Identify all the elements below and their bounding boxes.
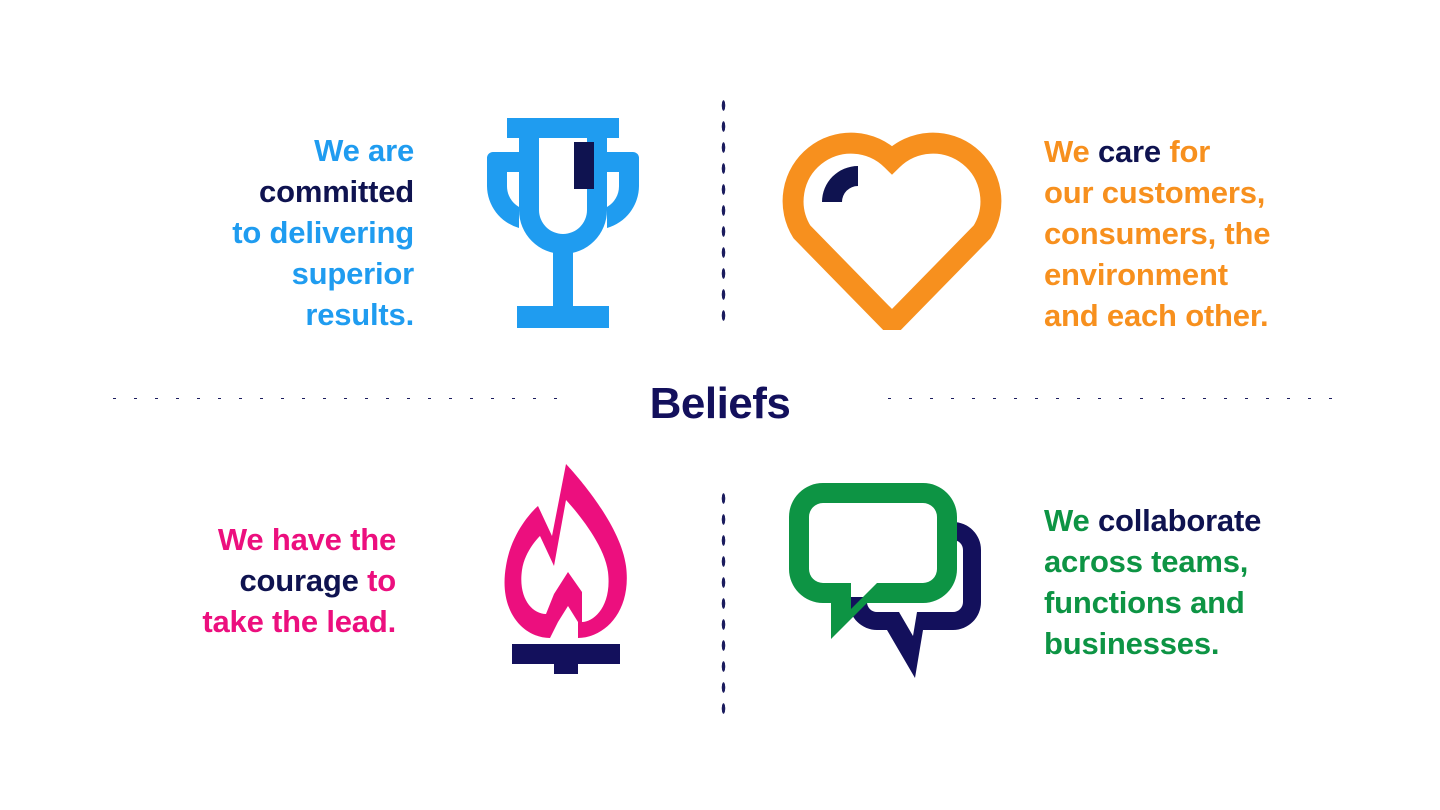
belief-word-run: for <box>1161 134 1210 169</box>
belief-word-run: superior <box>292 256 414 291</box>
belief-line: our customers, <box>1044 172 1404 213</box>
speech-bubbles-icon <box>787 481 1000 684</box>
belief-word-run: consumers, the <box>1044 216 1270 251</box>
belief-keyword: courage <box>240 563 359 598</box>
torch-base <box>512 644 620 674</box>
belief-word-run: environment <box>1044 257 1228 292</box>
beliefs-slide: Beliefs We arecommittedto deliveringsupe… <box>0 0 1440 810</box>
belief-text-collaborate: We collaborateacross teams,functions and… <box>1044 500 1414 664</box>
belief-text-care: We care forour customers,consumers, thee… <box>1044 131 1404 336</box>
belief-text-courage: We have thecourage totake the lead. <box>56 519 396 642</box>
belief-line: We are <box>84 130 414 171</box>
belief-keyword: care <box>1098 134 1161 169</box>
belief-text-committed: We arecommittedto deliveringsuperiorresu… <box>84 130 414 335</box>
belief-line: committed <box>84 171 414 212</box>
page-title: Beliefs <box>0 378 1440 430</box>
belief-line: courage to <box>56 560 396 601</box>
belief-line: to delivering <box>84 212 414 253</box>
belief-line: businesses. <box>1044 623 1414 664</box>
belief-keyword: collaborate <box>1098 503 1261 538</box>
belief-word-run: and each other. <box>1044 298 1268 333</box>
belief-keyword: committed <box>259 174 414 209</box>
trophy-icon <box>481 118 645 330</box>
belief-line: consumers, the <box>1044 213 1404 254</box>
belief-line: across teams, <box>1044 541 1414 582</box>
belief-line: results. <box>84 294 414 335</box>
belief-word-run: We <box>1044 503 1098 538</box>
belief-word-run: We <box>1044 134 1098 169</box>
belief-word-run: our customers, <box>1044 175 1265 210</box>
belief-line: We have the <box>56 519 396 560</box>
belief-word-run: We have the <box>218 522 396 557</box>
belief-word-run: businesses. <box>1044 626 1219 661</box>
belief-word-run: across teams, <box>1044 544 1248 579</box>
belief-word-run: functions and <box>1044 585 1245 620</box>
belief-word-run: results. <box>305 297 414 332</box>
divider-bottom-vertical <box>720 488 727 722</box>
trophy-accent-chip <box>574 142 594 189</box>
belief-line: take the lead. <box>56 601 396 642</box>
heart-icon <box>780 118 1004 330</box>
flame-torch-icon <box>500 462 632 674</box>
belief-line: superior <box>84 253 414 294</box>
belief-line: functions and <box>1044 582 1414 623</box>
belief-word-run: take the lead. <box>202 604 396 639</box>
belief-line: We collaborate <box>1044 500 1414 541</box>
heart-accent-arc <box>822 166 858 202</box>
belief-line: We care for <box>1044 131 1404 172</box>
belief-word-run: to <box>359 563 396 598</box>
belief-line: and each other. <box>1044 295 1404 336</box>
belief-word-run: We are <box>314 133 414 168</box>
divider-top-vertical <box>720 95 727 327</box>
belief-word-run: to delivering <box>232 215 414 250</box>
belief-line: environment <box>1044 254 1404 295</box>
